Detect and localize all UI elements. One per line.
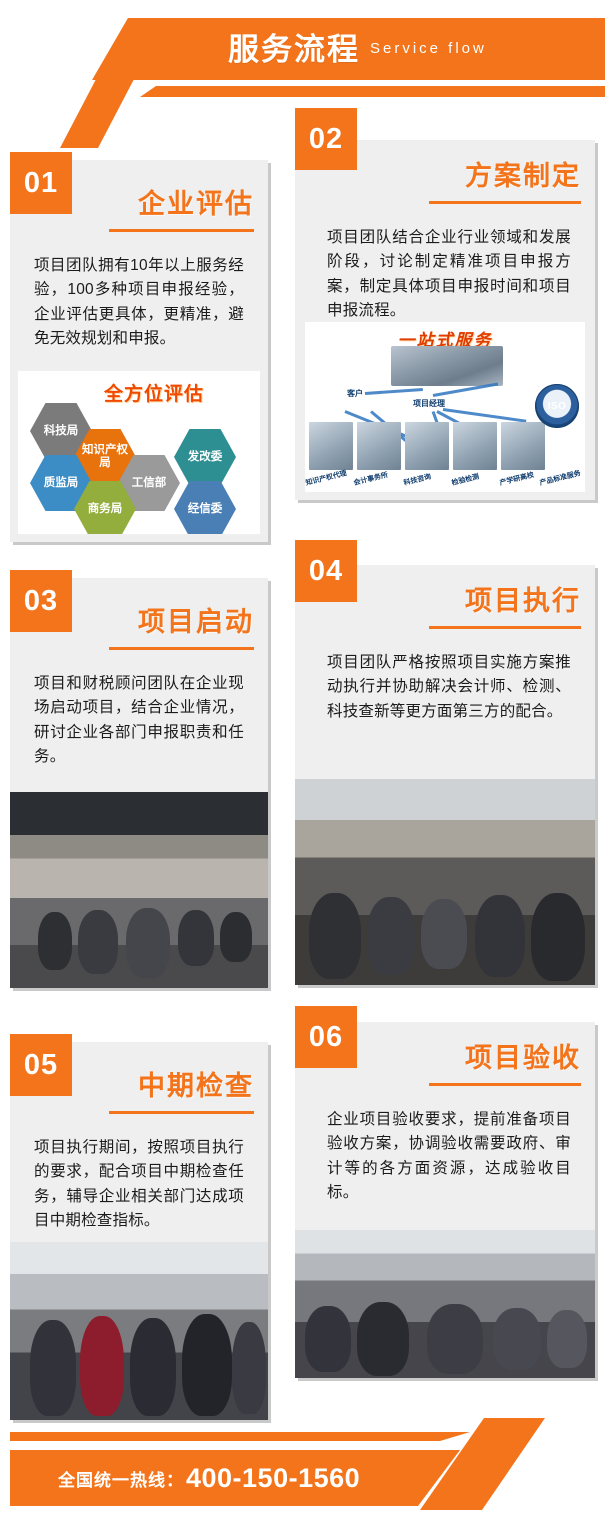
photo-figure [232,1322,266,1414]
photo-figure [182,1314,232,1416]
hex-diagram-heading: 全方位评估 [104,379,204,406]
photo-figure [30,1320,76,1416]
one-stop-thumb-3 [405,422,449,470]
photo-figure [126,908,170,978]
header-title-cn: 服务流程 [228,34,360,65]
card-03-body: 项目和财税顾问团队在企业现场启动项目，结合企业情况，研讨企业各部门申报职责和任务… [24,650,254,770]
card-03-number-badge: 03 [10,570,72,632]
photo-figure [421,899,467,969]
one-stop-node-manager: 项目经理 [413,398,445,409]
process-card-04[interactable]: 项目执行 项目团队严格按照项目实施方案推动执行并协助解决会计师、检测、科技查新等… [295,565,595,985]
photo-figure [309,893,361,979]
photo-figure [178,910,214,966]
process-card-06[interactable]: 项目验收 企业项目验收要求，提前准备项目验收方案，协调验收需要政府、审计等的各方… [295,1022,595,1378]
one-stop-thumb-2 [357,422,401,470]
one-stop-thumb-5 [501,422,545,470]
process-card-03[interactable]: 项目启动 项目和财税顾问团队在企业现场启动项目，结合企业情况，研讨企业各部门申报… [10,578,268,988]
one-stop-arrow-1 [365,388,423,395]
photo-figure [427,1304,483,1374]
footer-hotline-number[interactable]: 400-150-1560 [186,1463,360,1494]
photo-figure [78,910,118,974]
one-stop-node-customer: 客户 [347,388,363,399]
header-title-en: Service flow [370,41,487,58]
one-stop-label-consulting: 科技咨询 [403,472,433,488]
header-thin-stripe-fill [0,86,605,97]
one-stop-iso-seal: ISO [535,384,579,428]
card-04-number-badge: 04 [295,540,357,602]
card-02-inner: 方案制定 项目团队结合企业行业领域和发展阶段，讨论制定精准项目申报方案，制定具体… [295,140,595,500]
one-stop-top-photo [391,346,503,386]
card-05-number-badge: 05 [10,1034,72,1096]
card-05-body: 项目执行期间，按照项目执行的要求，配合项目中期检查任务，辅导企业相关部门达成项目… [24,1114,254,1234]
card-06-photo [295,1230,595,1378]
photo-figure [130,1318,176,1416]
card-03-photo [10,792,268,988]
photo-figure [80,1316,124,1416]
footer-hotline-group: 全国统一热线： 400-150-1560 [10,1450,460,1506]
hex-diagram-figure: 全方位评估 科技局 知识产权局 质监局 工信部 商务局 发改委 经信委 [18,371,260,534]
photo-figure [493,1308,541,1370]
one-stop-iso-seal-text: ISO [535,384,579,428]
photo-figure [547,1310,587,1368]
card-05-photo [10,1242,268,1420]
photo-figure [38,912,72,970]
photo-figure [531,893,585,981]
one-stop-label-ip: 知识产权代理 [305,468,348,488]
card-01-number-badge: 01 [10,152,72,214]
one-stop-service-figure: 一站式服务 客户 项目经理 知识产权代理 会计事务所 科技咨询 检验检 [305,322,585,492]
one-stop-label-standards: 产品标准服务 [539,468,582,488]
hex-node-jingxin: 经信委 [174,481,236,534]
card-01-inner: 企业评估 项目团队拥有10年以上服务经验，100多种项目申报经验，企业评估更具体… [10,160,268,542]
photo-figure [220,912,252,962]
one-stop-thumb-1 [309,422,353,470]
card-06-number-badge: 06 [295,1006,357,1068]
process-card-01[interactable]: 企业评估 项目团队拥有10年以上服务经验，100多种项目申报经验，企业评估更具体… [10,160,268,542]
card-04-body: 项目团队严格按照项目实施方案推动执行并协助解决会计师、检测、科技查新等更方面第三… [309,629,581,724]
card-02-number-badge: 02 [295,108,357,170]
photo-figure [357,1302,409,1376]
one-stop-label-testing: 检验检测 [451,472,481,488]
one-stop-label-university: 产学研高校 [499,470,535,488]
photo-figure [305,1306,351,1372]
footer-hotline-label: 全国统一热线： [58,1466,184,1491]
process-card-02[interactable]: 方案制定 项目团队结合企业行业领域和发展阶段，讨论制定精准项目申报方案，制定具体… [295,140,595,500]
one-stop-thumb-4 [453,422,497,470]
card-02-body: 项目团队结合企业行业领域和发展阶段，讨论制定精准项目申报方案，制定具体项目申报时… [309,204,581,324]
hex-node-fagai: 发改委 [174,429,236,485]
header-title-group: 服务流程 Service flow [0,18,605,80]
card-04-photo [295,779,595,985]
infographic-page: 服务流程 Service flow 企业评估 项目团队拥有10年以上服务经验，1… [0,0,605,1538]
header-thin-stripe [0,86,605,97]
photo-figure [475,895,525,977]
card-06-body: 企业项目验收要求，提前准备项目验收方案，协调验收需要政府、审计等的各方面资源，达… [309,1086,581,1206]
photo-figure [367,897,415,975]
one-stop-label-accounting: 会计事务所 [353,470,389,488]
process-card-05[interactable]: 中期检查 项目执行期间，按照项目执行的要求，配合项目中期检查任务，辅导企业相关部… [10,1042,268,1420]
card-01-body: 项目团队拥有10年以上服务经验，100多种项目申报经验，企业评估更具体，更精准，… [24,232,254,352]
